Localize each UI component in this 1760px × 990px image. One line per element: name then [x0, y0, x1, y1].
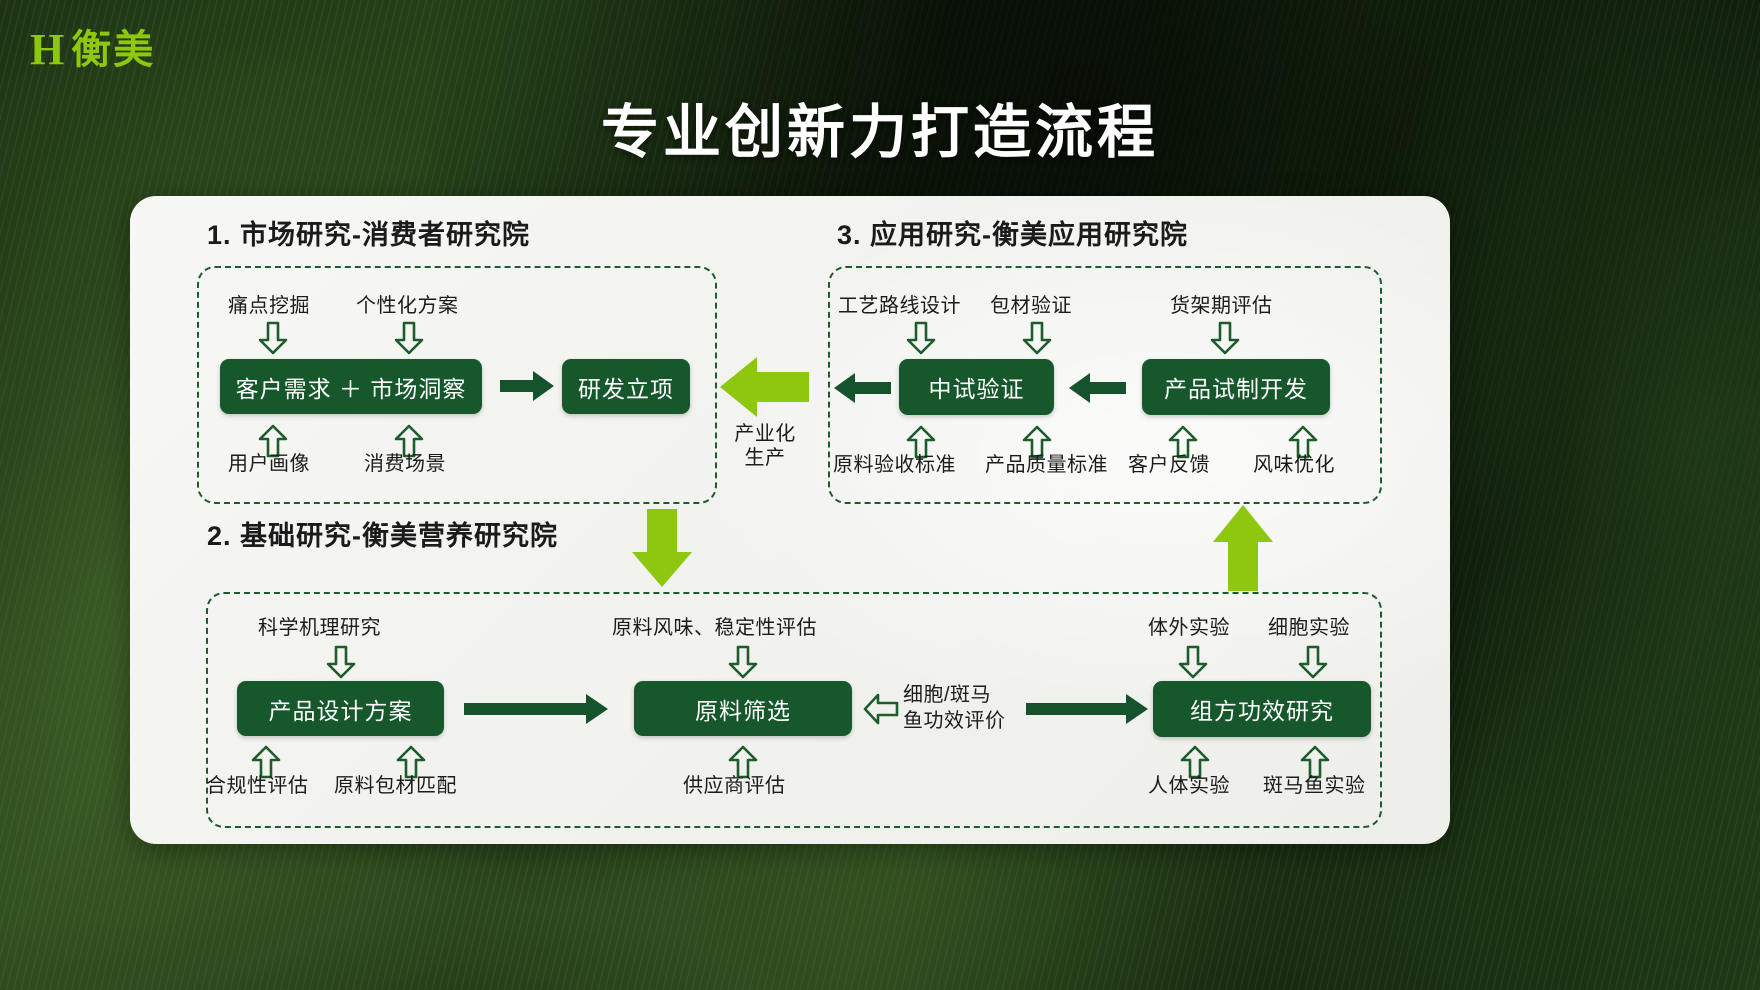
down-arrow-icon-2c [1178, 646, 1208, 678]
label-process-route-design: 工艺路线设计 [838, 294, 961, 319]
right-arrow-icon-1 [500, 371, 554, 401]
process-box-pilot-verification[interactable]: 中试验证 [899, 359, 1054, 415]
process-box-raw-material-screening[interactable]: 原料筛选 [634, 681, 852, 736]
down-arrow-icon-3b [1022, 322, 1052, 354]
process-box-formula-efficacy-research[interactable]: 组方功效研究 [1153, 681, 1371, 737]
process-box-customer-need-market-insight[interactable]: 客户需求 ＋ 市场洞察 [220, 359, 482, 414]
label-user-persona: 用户画像 [228, 452, 310, 477]
label-flavor-optimization: 风味优化 [1253, 453, 1335, 478]
process-box-product-trial-development[interactable]: 产品试制开发 [1142, 359, 1330, 415]
label-raw-packaging-matching: 原料包材匹配 [334, 774, 457, 799]
logo-h-icon: H [30, 28, 61, 72]
right-arrow-icon-2b [1026, 694, 1148, 724]
lime-up-arrow-to-section-3 [1212, 504, 1274, 592]
label-human-experiment: 人体实验 [1148, 774, 1230, 799]
down-arrow-icon-3a [906, 322, 936, 354]
label-raw-flavor-stability-evaluation: 原料风味、稳定性评估 [612, 616, 817, 641]
label-consumption-scene: 消费场景 [364, 452, 446, 477]
section-1-heading: 1. 市场研究-消费者研究院 [207, 218, 530, 253]
label-supplier-evaluation: 供应商评估 [683, 774, 786, 799]
label-cell-zebrafish-efficacy-evaluation: 细胞/斑马 鱼功效评价 [903, 682, 1027, 734]
label-compliance-evaluation: 合规性评估 [206, 774, 309, 799]
left-arrow-icon-3a [833, 373, 891, 403]
lime-left-arrow-industrialization [719, 356, 809, 418]
label-raw-material-acceptance-standard: 原料验收标准 [833, 453, 956, 478]
label-scientific-mechanism-research: 科学机理研究 [258, 616, 381, 641]
section-2-heading: 2. 基础研究-衡美营养研究院 [207, 519, 597, 554]
label-pain-point-mining: 痛点挖掘 [228, 294, 310, 319]
down-arrow-icon-2b [728, 646, 758, 678]
process-box-rd-project-initiation[interactable]: 研发立项 [562, 359, 690, 414]
page-title: 专业创新力打造流程 [0, 85, 1760, 169]
label-cell-experiment: 细胞实验 [1268, 616, 1350, 641]
down-arrow-icon-2a [326, 646, 356, 678]
down-arrow-icon-1b [394, 322, 424, 354]
down-arrow-icon-3c [1210, 322, 1240, 354]
section-3-heading: 3. 应用研究-衡美应用研究院 [837, 218, 1188, 253]
left-arrow-icon-3b [1068, 373, 1126, 403]
right-arrow-icon-2a [464, 694, 608, 724]
down-arrow-icon-2d [1298, 646, 1328, 678]
label-zebrafish-experiment: 斑马鱼实验 [1263, 774, 1366, 799]
label-customer-feedback: 客户反馈 [1128, 453, 1210, 478]
label-shelf-life-evaluation: 货架期评估 [1170, 294, 1273, 319]
label-industrialization-production: 产业化 生产 [722, 422, 808, 470]
logo-brand-name: 衡美 [71, 30, 155, 70]
label-personalized-solution: 个性化方案 [356, 294, 459, 319]
left-outline-arrow-icon-2 [864, 694, 898, 724]
process-box-product-design-plan[interactable]: 产品设计方案 [237, 681, 444, 736]
down-arrow-icon-1a [258, 322, 288, 354]
label-product-quality-standard: 产品质量标准 [985, 453, 1108, 478]
label-packaging-verification: 包材验证 [990, 294, 1072, 319]
label-in-vitro-experiment: 体外实验 [1148, 616, 1230, 641]
lime-down-arrow-to-section-2 [631, 508, 693, 588]
brand-logo: H 衡美 [30, 28, 155, 72]
